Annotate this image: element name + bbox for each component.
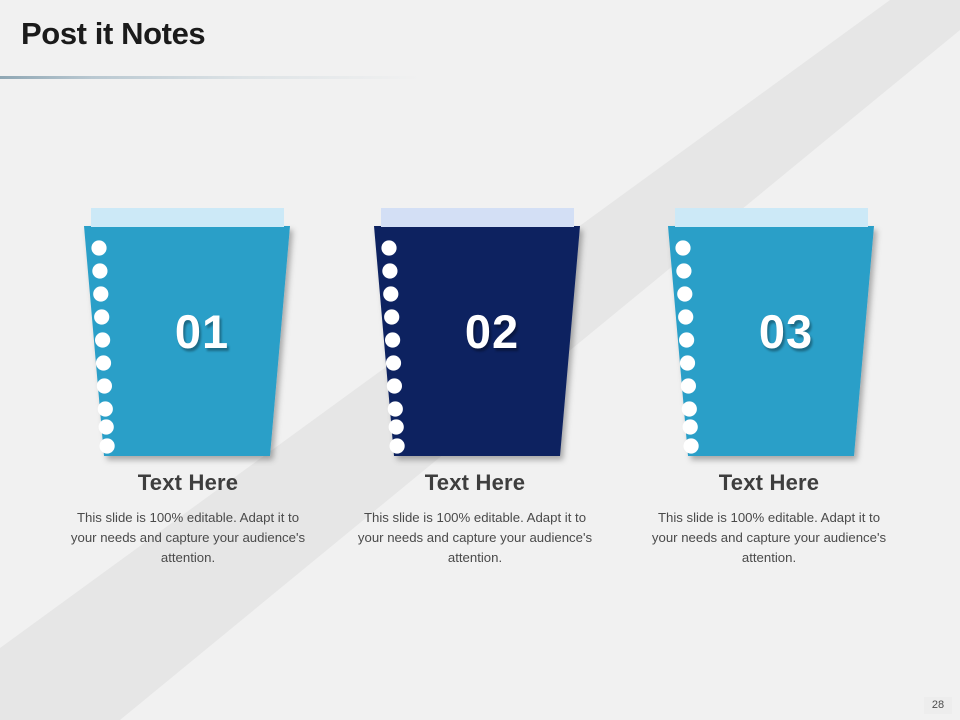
note-shape-02: 02 xyxy=(364,208,586,446)
note-number-03: 03 xyxy=(658,304,880,359)
caption-block-02: Text Here This slide is 100% editable. A… xyxy=(330,470,620,568)
note-number-01: 01 xyxy=(74,304,296,359)
page-title: Post it Notes xyxy=(21,16,205,52)
caption-body-03: This slide is 100% editable. Adapt it to… xyxy=(651,508,887,568)
caption-body-01: This slide is 100% editable. Adapt it to… xyxy=(70,508,306,568)
note-card-01[interactable]: 01 xyxy=(46,196,346,466)
caption-heading-01: Text Here xyxy=(43,470,333,496)
caption-block-03: Text Here This slide is 100% editable. A… xyxy=(624,470,914,568)
caption-body-02: This slide is 100% editable. Adapt it to… xyxy=(357,508,593,568)
slide-canvas: Post it Notes xyxy=(0,0,960,720)
title-divider xyxy=(0,76,420,79)
note-card-03[interactable]: 03 xyxy=(630,196,930,466)
note-number-02: 02 xyxy=(364,304,586,359)
note-header-strip-03 xyxy=(675,208,868,227)
note-header-strip-02 xyxy=(381,208,574,227)
caption-block-01: Text Here This slide is 100% editable. A… xyxy=(43,470,333,568)
caption-heading-03: Text Here xyxy=(624,470,914,496)
note-cards-row: 01 xyxy=(0,196,960,466)
note-shape-03: 03 xyxy=(658,208,880,446)
note-header-strip-01 xyxy=(91,208,284,227)
caption-heading-02: Text Here xyxy=(330,470,620,496)
page-number-badge: 28 xyxy=(924,697,952,714)
note-card-02[interactable]: 02 xyxy=(336,196,636,466)
note-shape-01: 01 xyxy=(74,208,296,446)
